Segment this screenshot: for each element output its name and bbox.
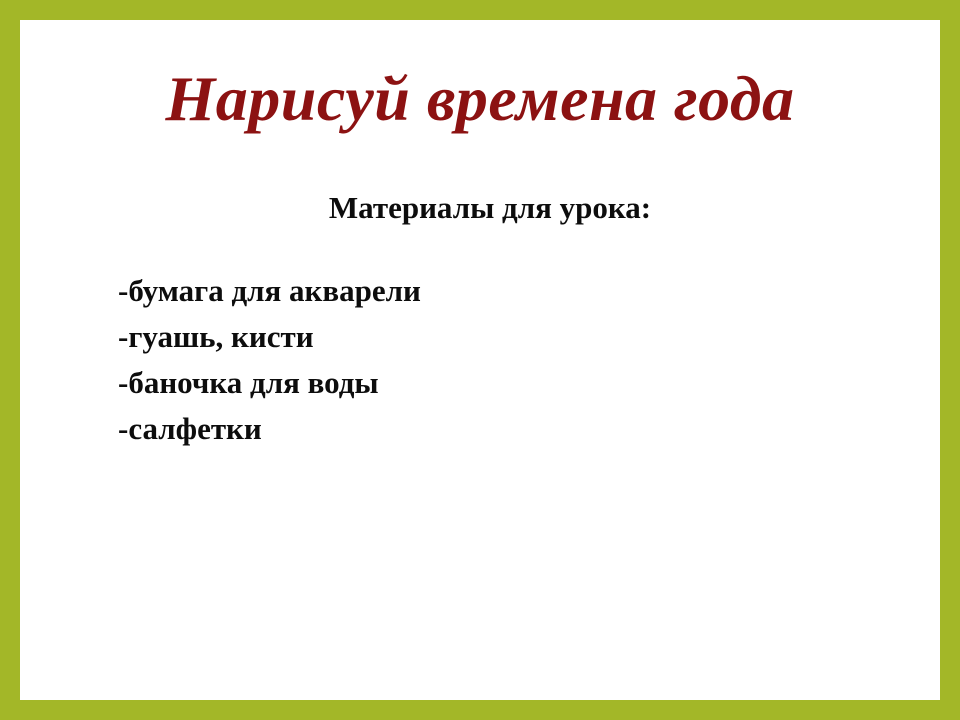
slide-title: Нарисуй времена года bbox=[20, 60, 940, 138]
list-item: -бумага для акварели bbox=[118, 268, 818, 314]
list-item: -салфетки bbox=[118, 406, 818, 452]
slide-border-top bbox=[0, 0, 960, 20]
slide-border-bottom bbox=[0, 700, 960, 720]
presentation-slide: Нарисуй времена года Материалы для урока… bbox=[0, 0, 960, 720]
slide-content-area: Нарисуй времена года Материалы для урока… bbox=[20, 20, 940, 700]
list-item: -гуашь, кисти bbox=[118, 314, 818, 360]
list-item: -баночка для воды bbox=[118, 360, 818, 406]
materials-list: -бумага для акварели -гуашь, кисти -бано… bbox=[118, 268, 818, 452]
slide-border-right bbox=[940, 0, 960, 720]
slide-border-left bbox=[0, 0, 20, 720]
materials-heading: Материалы для урока: bbox=[20, 188, 960, 228]
